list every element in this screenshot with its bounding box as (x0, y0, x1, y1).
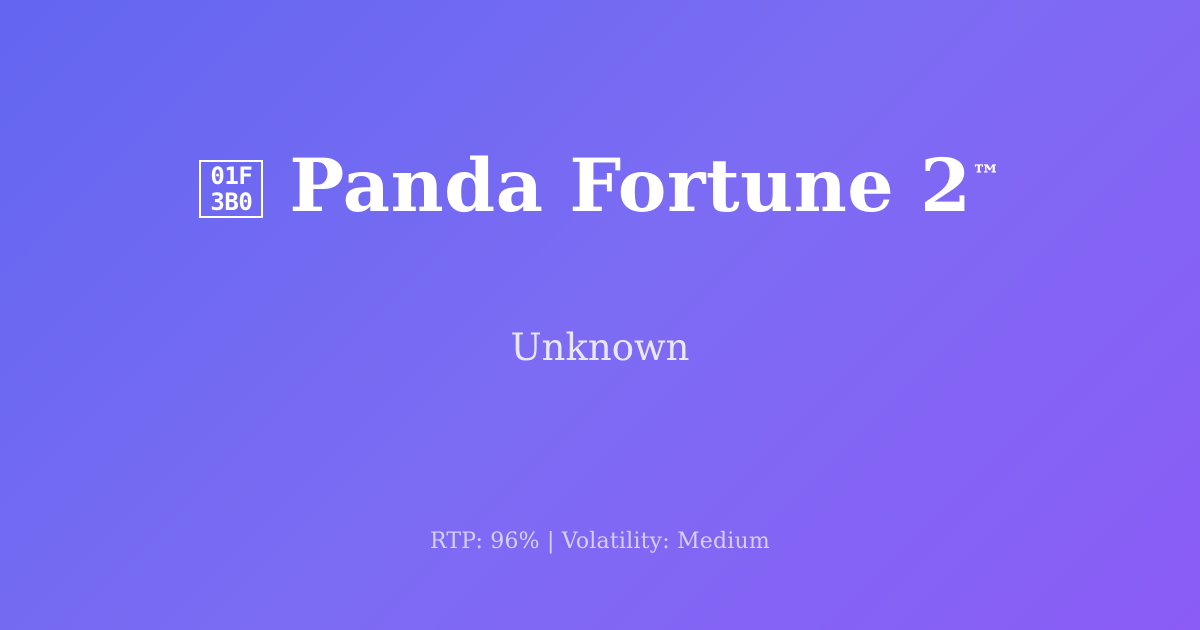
game-title-row: 01F 3B0 Panda Fortune 2™ (199, 100, 1000, 274)
tofu-codepoint-high: 01F (210, 163, 252, 189)
trademark-symbol: ™ (971, 159, 1000, 193)
hero-group: 01F 3B0 Panda Fortune 2™ Unknown (0, 0, 1200, 470)
slot-machine-emoji-icon: 01F 3B0 (199, 160, 263, 218)
social-share-card: 01F 3B0 Panda Fortune 2™ Unknown RTP: 96… (0, 0, 1200, 630)
game-stats-line: RTP: 96% | Volatility: Medium (0, 526, 1200, 558)
tofu-codepoint-low: 3B0 (210, 189, 252, 215)
game-provider-subtitle: Unknown (510, 326, 689, 370)
page-title: Panda Fortune 2™ (289, 148, 1000, 225)
page-title-text: Panda Fortune 2 (289, 143, 971, 229)
